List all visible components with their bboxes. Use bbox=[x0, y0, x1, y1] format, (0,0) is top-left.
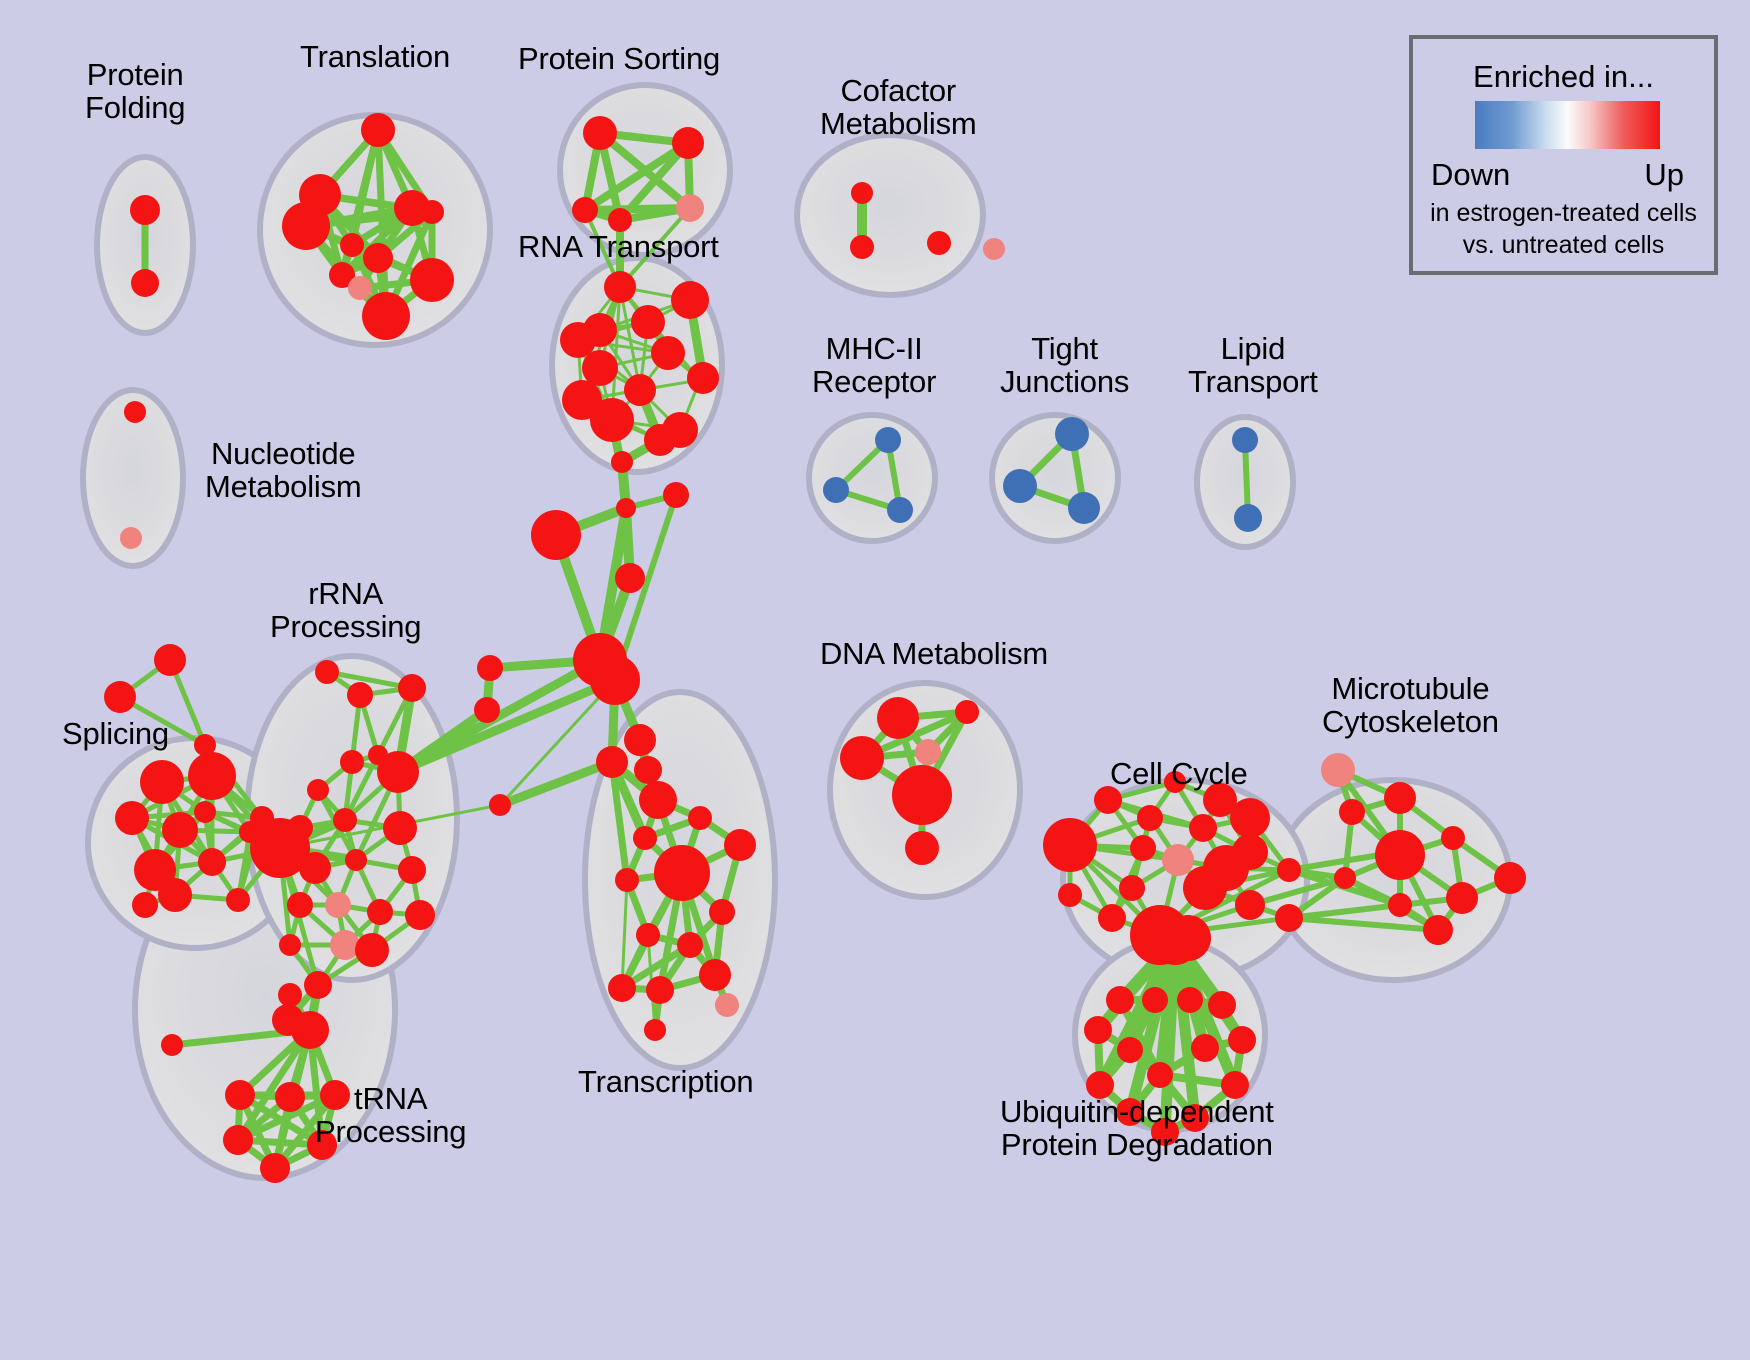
node bbox=[275, 1082, 305, 1112]
node bbox=[560, 322, 596, 358]
node bbox=[677, 932, 703, 958]
node bbox=[1191, 1034, 1219, 1062]
node bbox=[915, 739, 941, 765]
node bbox=[644, 1019, 666, 1041]
node bbox=[1494, 862, 1526, 894]
node bbox=[477, 655, 503, 681]
node bbox=[377, 751, 419, 793]
cluster-label-transcription: Transcription bbox=[578, 1065, 753, 1098]
node bbox=[1228, 1026, 1256, 1054]
node bbox=[983, 238, 1005, 260]
node bbox=[851, 182, 873, 204]
halo-mhc-ii-receptor bbox=[809, 415, 935, 541]
node bbox=[572, 197, 598, 223]
node bbox=[639, 781, 677, 819]
node bbox=[282, 202, 330, 250]
node bbox=[624, 724, 656, 756]
node bbox=[877, 697, 919, 739]
node bbox=[687, 362, 719, 394]
cluster-label-microtubule-cytoskeleton: Microtubule Cytoskeleton bbox=[1322, 672, 1499, 739]
node bbox=[840, 736, 884, 780]
node bbox=[340, 233, 364, 257]
node bbox=[299, 852, 331, 884]
halo-cofactor-metabolism bbox=[797, 135, 983, 295]
legend-title: Enriched in... bbox=[1413, 59, 1714, 95]
node bbox=[590, 655, 640, 705]
node bbox=[345, 849, 367, 871]
node bbox=[154, 644, 186, 676]
cluster-label-ubiquitin-degradation: Ubiquitin-dependent Protein Degradation bbox=[1000, 1095, 1274, 1162]
node bbox=[367, 899, 393, 925]
node bbox=[410, 258, 454, 302]
node bbox=[688, 806, 712, 830]
node bbox=[615, 868, 639, 892]
node bbox=[333, 808, 357, 832]
node bbox=[1388, 893, 1412, 917]
node bbox=[1150, 915, 1200, 965]
node bbox=[1137, 805, 1163, 831]
node bbox=[1321, 753, 1355, 787]
node bbox=[663, 482, 689, 508]
node bbox=[611, 451, 633, 473]
cluster-label-rrna-processing: rRNA Processing bbox=[270, 577, 421, 644]
node bbox=[1334, 867, 1356, 889]
node bbox=[1055, 417, 1089, 451]
node bbox=[226, 888, 250, 912]
cluster-label-tight-junctions: Tight Junctions bbox=[1000, 332, 1129, 399]
node bbox=[260, 1153, 290, 1183]
node bbox=[1183, 866, 1227, 910]
node bbox=[1230, 798, 1270, 838]
node bbox=[927, 231, 951, 255]
cluster-label-cofactor-metabolism: Cofactor Metabolism bbox=[820, 74, 977, 141]
node bbox=[130, 195, 160, 225]
node bbox=[474, 697, 500, 723]
node bbox=[608, 974, 636, 1002]
node bbox=[1235, 890, 1265, 920]
node bbox=[315, 660, 339, 684]
cluster-label-rna-transport: RNA Transport bbox=[518, 230, 719, 263]
legend-up-label: Up bbox=[1644, 157, 1684, 193]
node bbox=[624, 374, 656, 406]
node bbox=[1423, 915, 1453, 945]
node bbox=[1162, 844, 1194, 876]
cluster-label-dna-metabolism: DNA Metabolism bbox=[820, 637, 1048, 670]
node bbox=[1208, 991, 1236, 1019]
node bbox=[194, 801, 216, 823]
node bbox=[420, 200, 444, 224]
node bbox=[279, 934, 301, 956]
node bbox=[362, 292, 410, 340]
cluster-label-trna-processing: tRNA Processing bbox=[315, 1082, 466, 1149]
node bbox=[1234, 504, 1262, 532]
node bbox=[489, 794, 511, 816]
cluster-label-mhc-ii-receptor: MHC-II Receptor bbox=[812, 332, 936, 399]
node bbox=[291, 1011, 329, 1049]
node bbox=[162, 812, 198, 848]
node bbox=[646, 976, 674, 1004]
node bbox=[1119, 875, 1145, 901]
legend-box: Enriched in... Down Up in estrogen-treat… bbox=[1409, 35, 1718, 275]
node bbox=[287, 892, 313, 918]
node bbox=[115, 801, 149, 835]
cluster-label-cell-cycle: Cell Cycle bbox=[1110, 757, 1248, 790]
node bbox=[1003, 469, 1037, 503]
node bbox=[604, 271, 636, 303]
node bbox=[348, 276, 372, 300]
cluster-label-splicing: Splicing bbox=[62, 717, 169, 750]
node bbox=[1232, 427, 1258, 453]
node bbox=[892, 765, 952, 825]
legend-down-label: Down bbox=[1431, 157, 1510, 193]
node bbox=[654, 845, 710, 901]
node bbox=[120, 527, 142, 549]
node bbox=[1098, 904, 1126, 932]
node bbox=[631, 305, 665, 339]
node bbox=[850, 235, 874, 259]
node bbox=[531, 510, 581, 560]
node bbox=[383, 811, 417, 845]
node bbox=[1189, 814, 1217, 842]
node bbox=[1130, 835, 1156, 861]
node bbox=[1147, 1062, 1173, 1088]
node bbox=[161, 1034, 183, 1056]
node bbox=[355, 933, 389, 967]
node bbox=[104, 681, 136, 713]
node bbox=[330, 930, 360, 960]
node bbox=[1232, 834, 1268, 870]
node bbox=[676, 194, 704, 222]
cluster-label-translation: Translation bbox=[300, 40, 450, 73]
node bbox=[188, 752, 236, 800]
node bbox=[1275, 904, 1303, 932]
node bbox=[644, 424, 676, 456]
node bbox=[715, 993, 739, 1017]
node bbox=[1446, 882, 1478, 914]
node bbox=[1142, 987, 1168, 1013]
node bbox=[347, 682, 373, 708]
node bbox=[875, 427, 901, 453]
node bbox=[1177, 987, 1203, 1013]
node bbox=[405, 900, 435, 930]
cluster-label-lipid-transport: Lipid Transport bbox=[1188, 332, 1318, 399]
node bbox=[955, 700, 979, 724]
node bbox=[225, 1080, 255, 1110]
node bbox=[724, 829, 756, 861]
node bbox=[223, 1125, 253, 1155]
node bbox=[398, 674, 426, 702]
node bbox=[1068, 492, 1100, 524]
node bbox=[1117, 1037, 1143, 1063]
node bbox=[158, 878, 192, 912]
node bbox=[304, 971, 332, 999]
legend-subtitle-line-2: vs. untreated cells bbox=[1413, 231, 1714, 260]
node bbox=[672, 127, 704, 159]
node bbox=[1106, 986, 1134, 1014]
node bbox=[124, 401, 146, 423]
node bbox=[325, 892, 351, 918]
node bbox=[1084, 1016, 1112, 1044]
node bbox=[198, 848, 226, 876]
legend-subtitle-line-1: in estrogen-treated cells bbox=[1413, 199, 1714, 228]
node bbox=[905, 831, 939, 865]
node bbox=[363, 243, 393, 273]
node bbox=[1058, 883, 1082, 907]
legend-color-gradient-bar bbox=[1475, 101, 1660, 149]
node bbox=[131, 269, 159, 297]
node bbox=[140, 760, 184, 804]
node bbox=[633, 826, 657, 850]
enrichment-network-figure: Protein Folding Translation Nucleotide M… bbox=[0, 0, 1750, 1360]
node bbox=[307, 779, 329, 801]
node bbox=[132, 892, 158, 918]
node bbox=[634, 756, 662, 784]
node bbox=[823, 477, 849, 503]
node bbox=[582, 350, 618, 386]
node bbox=[1043, 818, 1097, 872]
node bbox=[1339, 799, 1365, 825]
node bbox=[1277, 858, 1301, 882]
node bbox=[398, 856, 426, 884]
node bbox=[887, 497, 913, 523]
cluster-label-nucleotide-metabolism: Nucleotide Metabolism bbox=[205, 437, 362, 504]
node bbox=[671, 281, 709, 319]
node bbox=[699, 959, 731, 991]
node bbox=[583, 116, 617, 150]
node bbox=[596, 746, 628, 778]
node bbox=[651, 336, 685, 370]
cluster-label-protein-folding: Protein Folding bbox=[85, 58, 185, 125]
node bbox=[340, 750, 364, 774]
cluster-label-protein-sorting: Protein Sorting bbox=[518, 42, 720, 75]
node bbox=[616, 498, 636, 518]
node bbox=[1441, 826, 1465, 850]
node bbox=[636, 923, 660, 947]
node bbox=[1375, 830, 1425, 880]
node bbox=[1384, 782, 1416, 814]
node bbox=[709, 899, 735, 925]
node bbox=[361, 113, 395, 147]
node bbox=[278, 983, 302, 1007]
node bbox=[590, 398, 634, 442]
node bbox=[615, 563, 645, 593]
